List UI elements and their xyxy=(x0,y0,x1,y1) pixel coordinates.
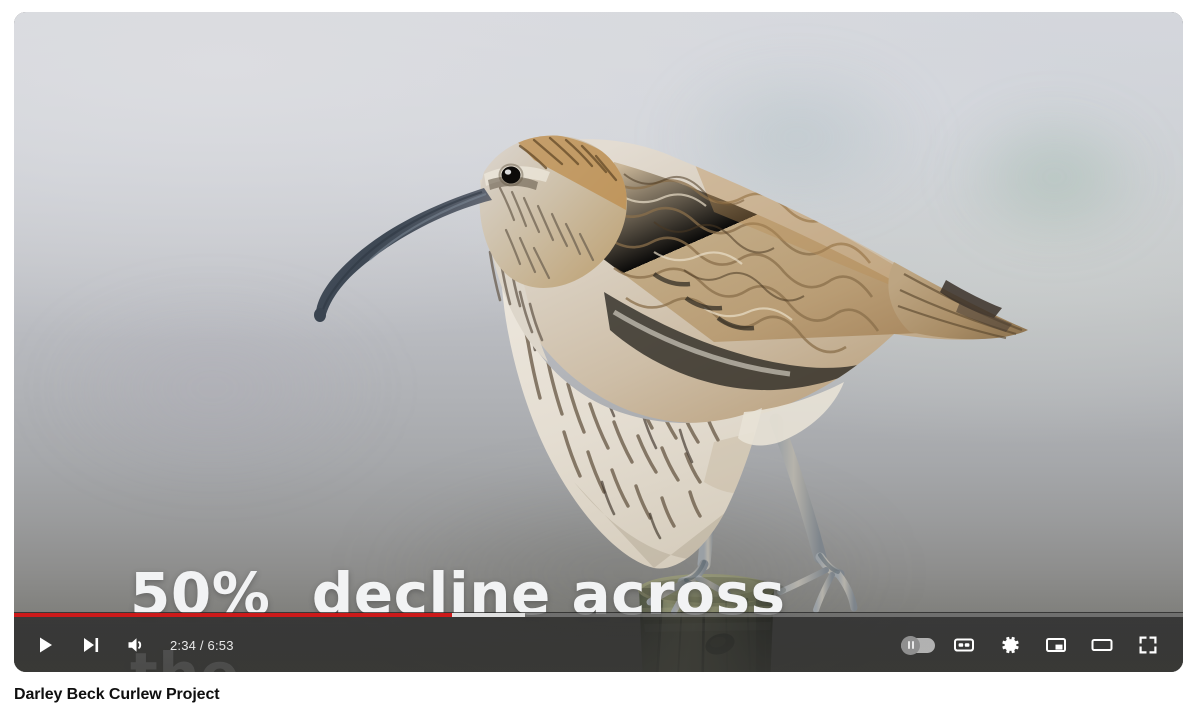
video-player[interactable]: 50% decline across the UK in the past 30… xyxy=(14,12,1183,672)
fullscreen-icon xyxy=(1136,633,1160,657)
next-button[interactable] xyxy=(68,622,114,668)
controls-row: 2:34 / 6:53 xyxy=(14,618,1183,672)
autoplay-switch-knob xyxy=(901,636,920,655)
pause-bar xyxy=(908,641,910,649)
fullscreen-button[interactable] xyxy=(1125,622,1171,668)
miniplayer-icon xyxy=(1044,633,1068,657)
gear-icon xyxy=(998,633,1022,657)
video-stage[interactable]: 50% decline across the UK in the past 30… xyxy=(14,12,1183,672)
bird-eye xyxy=(500,165,523,186)
volume-icon xyxy=(125,633,149,657)
settings-button[interactable] xyxy=(987,622,1033,668)
subtitles-button[interactable] xyxy=(941,622,987,668)
youtube-watch-page: 50% decline across the UK in the past 30… xyxy=(0,0,1197,714)
volume-button[interactable] xyxy=(114,622,160,668)
video-title[interactable]: Darley Beck Curlew Project xyxy=(14,684,1114,706)
play-button[interactable] xyxy=(22,622,68,668)
autoplay-switch-track xyxy=(901,638,935,653)
controls-left: 2:34 / 6:53 xyxy=(14,622,242,668)
play-icon xyxy=(33,633,57,657)
miniplayer-button[interactable] xyxy=(1033,622,1079,668)
player-controls-bar: 2:34 / 6:53 xyxy=(14,612,1183,672)
theater-mode-button[interactable] xyxy=(1079,622,1125,668)
pause-bar xyxy=(912,641,914,649)
bird-bill xyxy=(314,188,492,322)
progress-played xyxy=(14,613,452,617)
next-track-icon xyxy=(79,633,103,657)
closed-captions-icon xyxy=(952,633,976,657)
autoplay-toggle[interactable] xyxy=(895,622,941,668)
time-display: 2:34 / 6:53 xyxy=(160,638,242,653)
video-meta: Darley Beck Curlew Project xyxy=(14,684,1114,706)
controls-right xyxy=(895,622,1183,668)
theater-mode-icon xyxy=(1090,633,1114,657)
